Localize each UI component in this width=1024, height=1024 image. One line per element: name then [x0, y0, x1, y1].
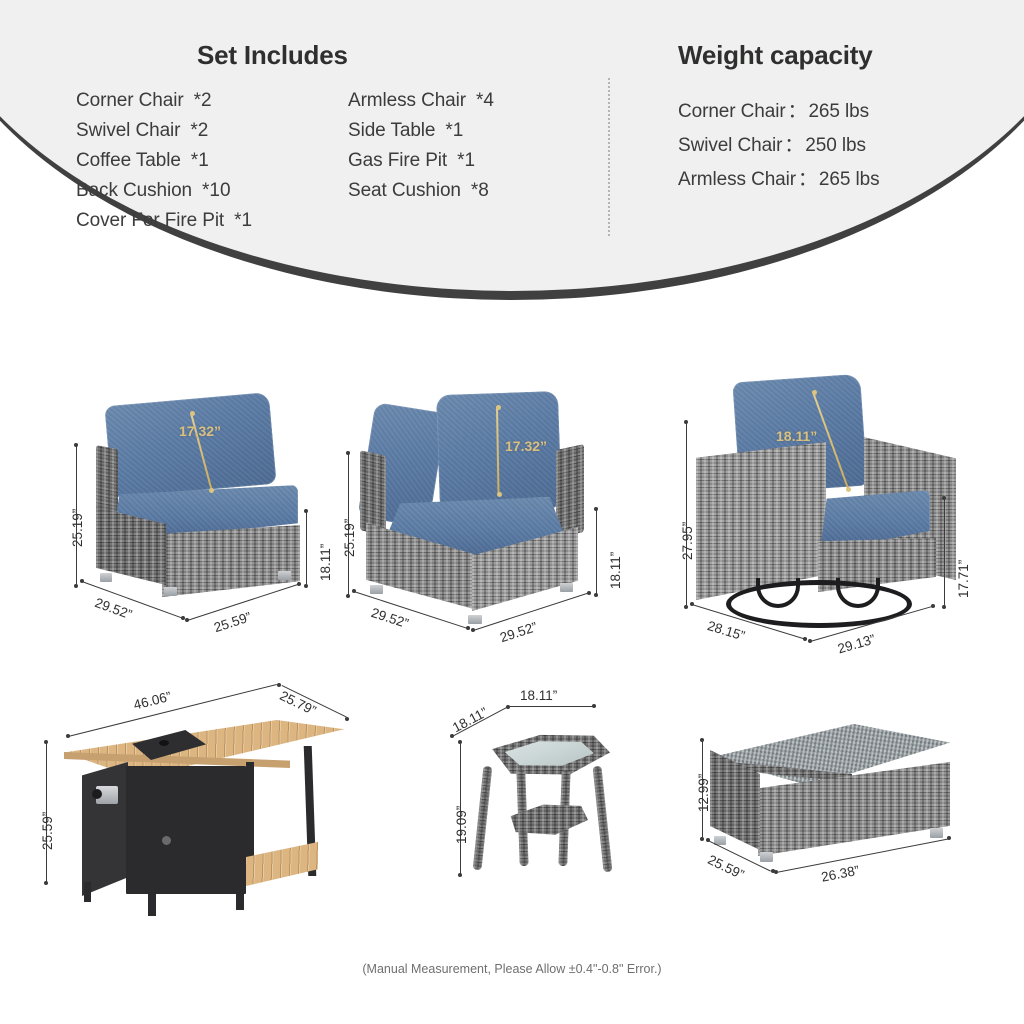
set-item: Armless Chair*4	[348, 90, 494, 112]
armless-width-dim-tick	[297, 582, 301, 586]
set-item: Side Table*1	[348, 120, 463, 142]
product-swivel-chair: 18.11” 27.95” 17.71” 28.15” 29.13”	[668, 370, 1008, 660]
armless-width-dim-tick	[185, 618, 189, 622]
set-item-label: Side Table	[348, 120, 435, 141]
weight-capacity-label: Corner Chair	[678, 101, 786, 122]
side-table-width-dim-tick	[592, 704, 596, 708]
swivel-height-dim-label: 27.95”	[680, 522, 695, 560]
set-item-qty: *2	[194, 90, 212, 111]
armless-foot	[278, 571, 291, 580]
weight-capacity-value: 265 lbs	[808, 101, 869, 122]
fire-pit-length-dim-tick	[277, 683, 281, 687]
set-item-qty: *1	[445, 120, 463, 141]
set-item-label: Armless Chair	[348, 90, 466, 111]
corner-seat-height-dim-label: 18.11”	[608, 552, 623, 589]
coffee-table-depth-dim-tick	[706, 838, 710, 842]
corner-depth-dim-tick	[352, 589, 356, 593]
fire-pit-height-dim-tick	[44, 740, 48, 744]
side-table-height-dim-label: 19.09”	[454, 806, 469, 844]
corner-width-dim-label: 29.52”	[498, 619, 539, 645]
set-item: Seat Cushion*8	[348, 180, 489, 202]
set-item-qty: *1	[457, 150, 475, 171]
armless-back-cushion	[104, 392, 276, 498]
coffee-table-height-dim-label: 12.99”	[696, 774, 711, 812]
fire-pit-door-knob	[162, 836, 171, 845]
coffee-table-width-dim-tick	[947, 836, 951, 840]
side-table-leg	[473, 766, 493, 870]
side-table-width-dim-label: 18.11”	[520, 688, 557, 703]
coffee-table-width-dim-tick	[774, 870, 778, 874]
swivel-height-dim-line	[686, 422, 687, 608]
swivel-height-dim-tick	[684, 420, 688, 424]
armless-back-cushion-dim-dot	[190, 411, 195, 416]
product-side-table: 18.11” 18.11” 19.09”	[420, 700, 680, 930]
armless-height-dim-label: 25.19”	[70, 509, 85, 547]
fire-pit-height-dim-tick	[44, 881, 48, 885]
fire-pit-burner-hole	[159, 740, 169, 746]
weight-capacity-separator: ：	[784, 135, 803, 156]
armless-seat-height-dim-tick	[304, 509, 308, 513]
corner-back-cushion-dim-dot	[496, 405, 501, 410]
set-item-label: Gas Fire Pit	[348, 150, 447, 171]
set-item-label: Coffee Table	[76, 150, 181, 171]
fire-pit-foot	[148, 890, 156, 916]
fire-pit-foot	[84, 882, 91, 902]
corner-back-cushion-dim-label: 17.32”	[505, 438, 547, 454]
product-armless-chair: 17.32” 25.19” 18.11” 29.52” 25.59”	[40, 385, 340, 655]
header-ellipse-panel: Set Includes Weight capacity Corner Chai…	[0, 0, 1024, 300]
side-table-lower-shelf	[502, 804, 588, 836]
corner-foot	[370, 585, 383, 594]
side-table-depth-dim-tick	[450, 734, 454, 738]
swivel-base-ring	[726, 580, 912, 628]
set-item: Swivel Chair*2	[76, 120, 208, 142]
side-table-leg	[592, 766, 612, 872]
fire-pit-depth-dim-tick	[345, 717, 349, 721]
set-item-qty: *2	[190, 120, 208, 141]
weight-capacity-row: Armless Chair：265 lbs	[678, 164, 879, 191]
set-item-qty: *1	[234, 210, 252, 231]
swivel-width-dim-tick	[931, 604, 935, 608]
coffee-table-width-dim-label: 26.38”	[820, 863, 860, 885]
fire-pit-lower-shelf	[246, 842, 318, 886]
armless-depth-dim-tick	[80, 579, 84, 583]
corner-left-frame	[360, 450, 386, 536]
corner-depth-dim-tick	[466, 626, 470, 630]
set-item-qty: *10	[202, 180, 231, 201]
swivel-seat-height-dim-tick	[942, 496, 946, 500]
coffee-table-foot	[930, 828, 943, 838]
product-gas-fire-pit: 46.06” 25.79” 25.59”	[20, 690, 360, 940]
fire-pit-foot	[236, 886, 244, 910]
product-corner-chair: 17.32” 25.19” 18.11” 29.52” 29.52”	[338, 385, 648, 655]
weight-capacity-separator: ：	[788, 101, 807, 122]
measurement-footnote: (Manual Measurement, Please Allow ±0.4"-…	[0, 962, 1024, 976]
armless-foot	[100, 573, 112, 582]
fire-pit-handle-grip	[92, 789, 102, 799]
swivel-back-cushion-dim-dot	[846, 487, 851, 492]
set-item: Cover For Fire Pit*1	[76, 210, 252, 232]
side-table-width-dim-line	[510, 706, 596, 707]
set-includes-title: Set Includes	[197, 40, 348, 71]
corner-right-frame	[556, 444, 584, 538]
corner-height-dim-tick	[346, 451, 350, 455]
set-item-label: Seat Cushion	[348, 180, 461, 201]
header-divider	[608, 78, 610, 236]
swivel-width-dim-label: 29.13”	[836, 631, 877, 656]
armless-height-dim-tick	[74, 584, 78, 588]
corner-seat-height-dim-tick	[594, 507, 598, 511]
fire-pit-cabinet-side	[82, 762, 128, 896]
set-item-label: Back Cushion	[76, 180, 192, 201]
corner-back-cushion-dim-dot	[497, 492, 502, 497]
fire-pit-height-dim-label: 25.59”	[40, 812, 55, 850]
coffee-table-foot	[760, 852, 773, 862]
swivel-height-dim-tick	[684, 605, 688, 609]
corner-width-dim-tick	[587, 591, 591, 595]
side-table-height-dim-tick	[458, 873, 462, 877]
swivel-seat-height-dim-tick	[942, 605, 946, 609]
armless-back-cushion-dim-label: 17.32”	[179, 423, 221, 439]
corner-height-dim-label: 25.19”	[342, 519, 357, 557]
weight-capacity-separator: ：	[798, 169, 817, 190]
set-item-label: Swivel Chair	[76, 120, 180, 141]
weight-capacity-row: Swivel Chair：250 lbs	[678, 130, 866, 157]
swivel-seat-height-dim-line	[944, 498, 945, 608]
product-coffee-table: 12.99” 25.59” 26.38”	[668, 700, 1008, 930]
coffee-table-height-dim-tick	[700, 738, 704, 742]
coffee-table-height-dim-tick	[700, 837, 704, 841]
swivel-seat-height-dim-label: 17.71”	[956, 560, 971, 598]
side-table-depth-dim-label: 18.11”	[450, 704, 490, 735]
fire-pit-length-dim-tick	[66, 734, 70, 738]
weight-capacity-label: Armless Chair	[678, 169, 796, 190]
corner-width-dim-tick	[471, 628, 475, 632]
swivel-left-arm	[696, 442, 826, 600]
weight-capacity-title: Weight capacity	[678, 40, 872, 71]
set-item: Coffee Table*1	[76, 150, 209, 172]
armless-base-front	[162, 525, 300, 597]
swivel-depth-dim-tick	[803, 637, 807, 641]
set-item: Corner Chair*2	[76, 90, 212, 112]
armless-foot	[164, 587, 177, 596]
corner-height-dim-tick	[346, 594, 350, 598]
set-item: Gas Fire Pit*1	[348, 150, 475, 172]
armless-width-dim-label: 25.59”	[212, 609, 253, 635]
swivel-depth-dim-label: 28.15”	[706, 618, 747, 644]
swivel-back-cushion-dim-label: 18.11”	[776, 428, 817, 444]
swivel-width-dim-tick	[808, 639, 812, 643]
weight-capacity-label: Swivel Chair	[678, 135, 782, 156]
header-content: Set Includes Weight capacity Corner Chai…	[0, 0, 1024, 300]
weight-capacity-value: 250 lbs	[805, 135, 866, 156]
set-item: Back Cushion*10	[76, 180, 231, 202]
set-item-qty: *4	[476, 90, 494, 111]
set-item-qty: *1	[191, 150, 209, 171]
set-item-label: Corner Chair	[76, 90, 184, 111]
fire-pit-cabinet-door	[126, 766, 246, 894]
armless-back-cushion-dim-dot	[209, 488, 214, 493]
corner-seat-height-dim-line	[596, 509, 597, 595]
armless-seat-height-dim-tick	[304, 584, 308, 588]
armless-seat-height-dim-label: 18.11”	[318, 544, 333, 581]
armless-height-dim-tick	[74, 443, 78, 447]
corner-depth-dim-label: 29.52”	[369, 605, 410, 631]
side-table-height-dim-tick	[458, 740, 462, 744]
set-item-qty: *8	[471, 180, 489, 201]
swivel-depth-dim-tick	[690, 602, 694, 606]
set-item-label: Cover For Fire Pit	[76, 210, 224, 231]
corner-foot	[560, 583, 573, 592]
fire-pit-length-dim-label: 46.06”	[132, 689, 173, 713]
corner-foot	[468, 615, 482, 624]
swivel-back-cushion-dim-dot	[812, 390, 817, 395]
weight-capacity-value: 265 lbs	[819, 169, 880, 190]
corner-seat-height-dim-tick	[594, 593, 598, 597]
weight-capacity-row: Corner Chair：265 lbs	[678, 96, 869, 123]
armless-seat-height-dim-line	[306, 511, 307, 587]
product-spec-infographic: Set Includes Weight capacity Corner Chai…	[0, 0, 1024, 1024]
